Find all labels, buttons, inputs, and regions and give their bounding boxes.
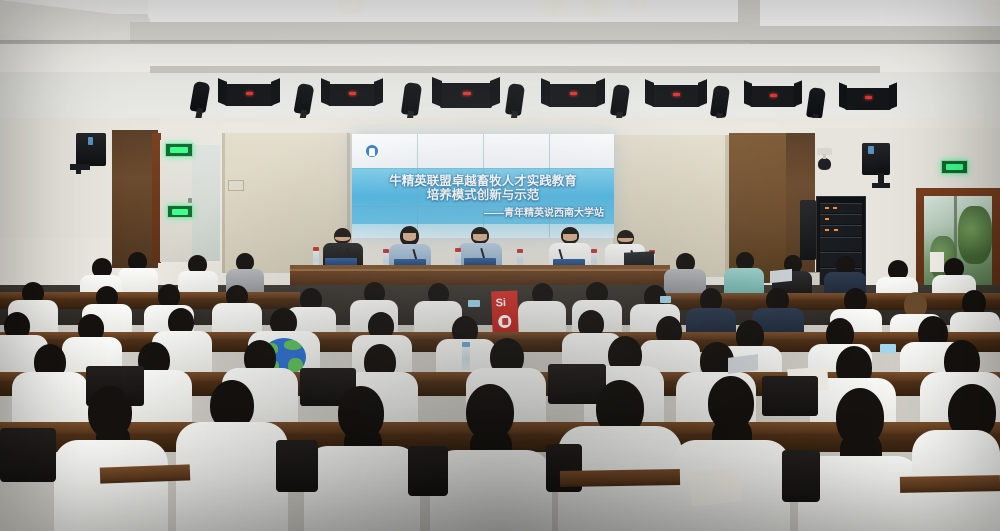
panelist-4-face (563, 234, 577, 241)
door-handle (188, 198, 192, 203)
panelist-3-face (473, 234, 487, 241)
stage-light-fixture (652, 85, 700, 107)
speaker-bracket-arm (872, 183, 890, 188)
fixture-barndoor (744, 80, 752, 106)
fixture-barndoor (374, 78, 383, 106)
panelist-5-glasses (618, 236, 633, 238)
audience-body (664, 269, 706, 295)
audience-smartphone (468, 300, 480, 307)
lighting-truss-bar (150, 66, 880, 73)
audience-body-foreground (430, 450, 552, 531)
panelist-2-face (403, 233, 416, 241)
exit-sign-right (941, 160, 968, 174)
exit-sign-upper-left (165, 143, 193, 157)
audience-body (518, 301, 566, 333)
seat-back-foreground (408, 446, 448, 496)
bench-foreground (560, 469, 680, 487)
fixture-barndoor (889, 82, 897, 109)
seat-back-foreground (276, 440, 318, 492)
stage-light-fixture (328, 84, 376, 106)
left-doorway-opening (192, 145, 220, 261)
wall-speaker-right (862, 143, 890, 175)
audience-body-foreground (176, 422, 288, 531)
fixture-barndoor (490, 77, 500, 107)
audience-body (118, 268, 158, 294)
speaker-bracket-post (76, 166, 81, 174)
stage-light-fixture (750, 86, 796, 107)
organization-logo-icon (366, 145, 378, 157)
conference-hall-photograph: 牛精英联盟卓越畜牧人才实践教育 培养模式创新与示范 ——青年精英说西南大学站 (0, 0, 1000, 531)
slide-title-block: 牛精英联盟卓越畜牧人才实践教育 培养模式创新与示范 ——青年精英说西南大学站 (352, 175, 614, 219)
speaker-badge (88, 137, 93, 145)
fixture-barndoor (541, 78, 550, 107)
led-video-wall: 牛精英联盟卓越畜牧人才实践教育 培养模式创新与示范 ——青年精英说西南大学站 (352, 134, 614, 238)
floor-speaker (800, 200, 816, 260)
stage-light-fixture (225, 84, 273, 106)
fixture-barndoor (794, 80, 802, 106)
fixture-barndoor (645, 79, 654, 107)
fixture-barndoor (839, 82, 847, 109)
bench-foreground (100, 464, 191, 483)
audience-body (12, 372, 88, 428)
audience-body-foreground (304, 446, 420, 531)
fixture-barndoor (321, 78, 330, 106)
head-table-edge (290, 269, 670, 271)
panelist-1-glasses (335, 235, 350, 237)
panel-seam (352, 168, 614, 169)
seat-back-foreground (0, 428, 56, 482)
slide-title-line-1: 牛精英联盟卓越畜牧人才实践教育 (352, 175, 614, 188)
audience-body-foreground (54, 440, 168, 531)
slide-title-line-2: 培养模式创新与示范 (352, 189, 614, 202)
audience-water-bottle (462, 346, 470, 370)
stage-light-fixture (845, 88, 891, 110)
security-camera (818, 158, 831, 170)
banner-logo-mark (498, 315, 511, 328)
bench-foreground (900, 475, 1000, 493)
door-notice-paper (930, 252, 944, 272)
ceiling-rail-left (130, 22, 750, 42)
exit-sign-lower-left (167, 205, 193, 218)
fixture-barndoor (698, 79, 707, 107)
camera-stem (823, 154, 826, 159)
stone-seam (222, 133, 225, 273)
wall-outlet-plate (228, 180, 244, 191)
audience-notebook-foreground (688, 467, 741, 506)
outdoor-foliage (958, 206, 992, 264)
stage-light-fixture (548, 84, 598, 107)
speaker-badge (868, 146, 874, 154)
stage-light-fixture (440, 83, 492, 108)
banner-text: Si (495, 297, 506, 309)
audience-body (724, 268, 764, 294)
fixture-barndoor (271, 78, 280, 106)
audience-smartphone (880, 344, 896, 353)
seat-back-foreground (782, 450, 820, 502)
audience-smartphone (660, 296, 671, 303)
fixture-barndoor (596, 78, 605, 107)
fixture-barndoor (432, 77, 442, 107)
slide-subtitle: ——青年精英说西南大学站 (352, 204, 614, 219)
seat-back (762, 376, 818, 416)
audience-laptop (770, 269, 792, 283)
fixture-barndoor (218, 78, 227, 106)
